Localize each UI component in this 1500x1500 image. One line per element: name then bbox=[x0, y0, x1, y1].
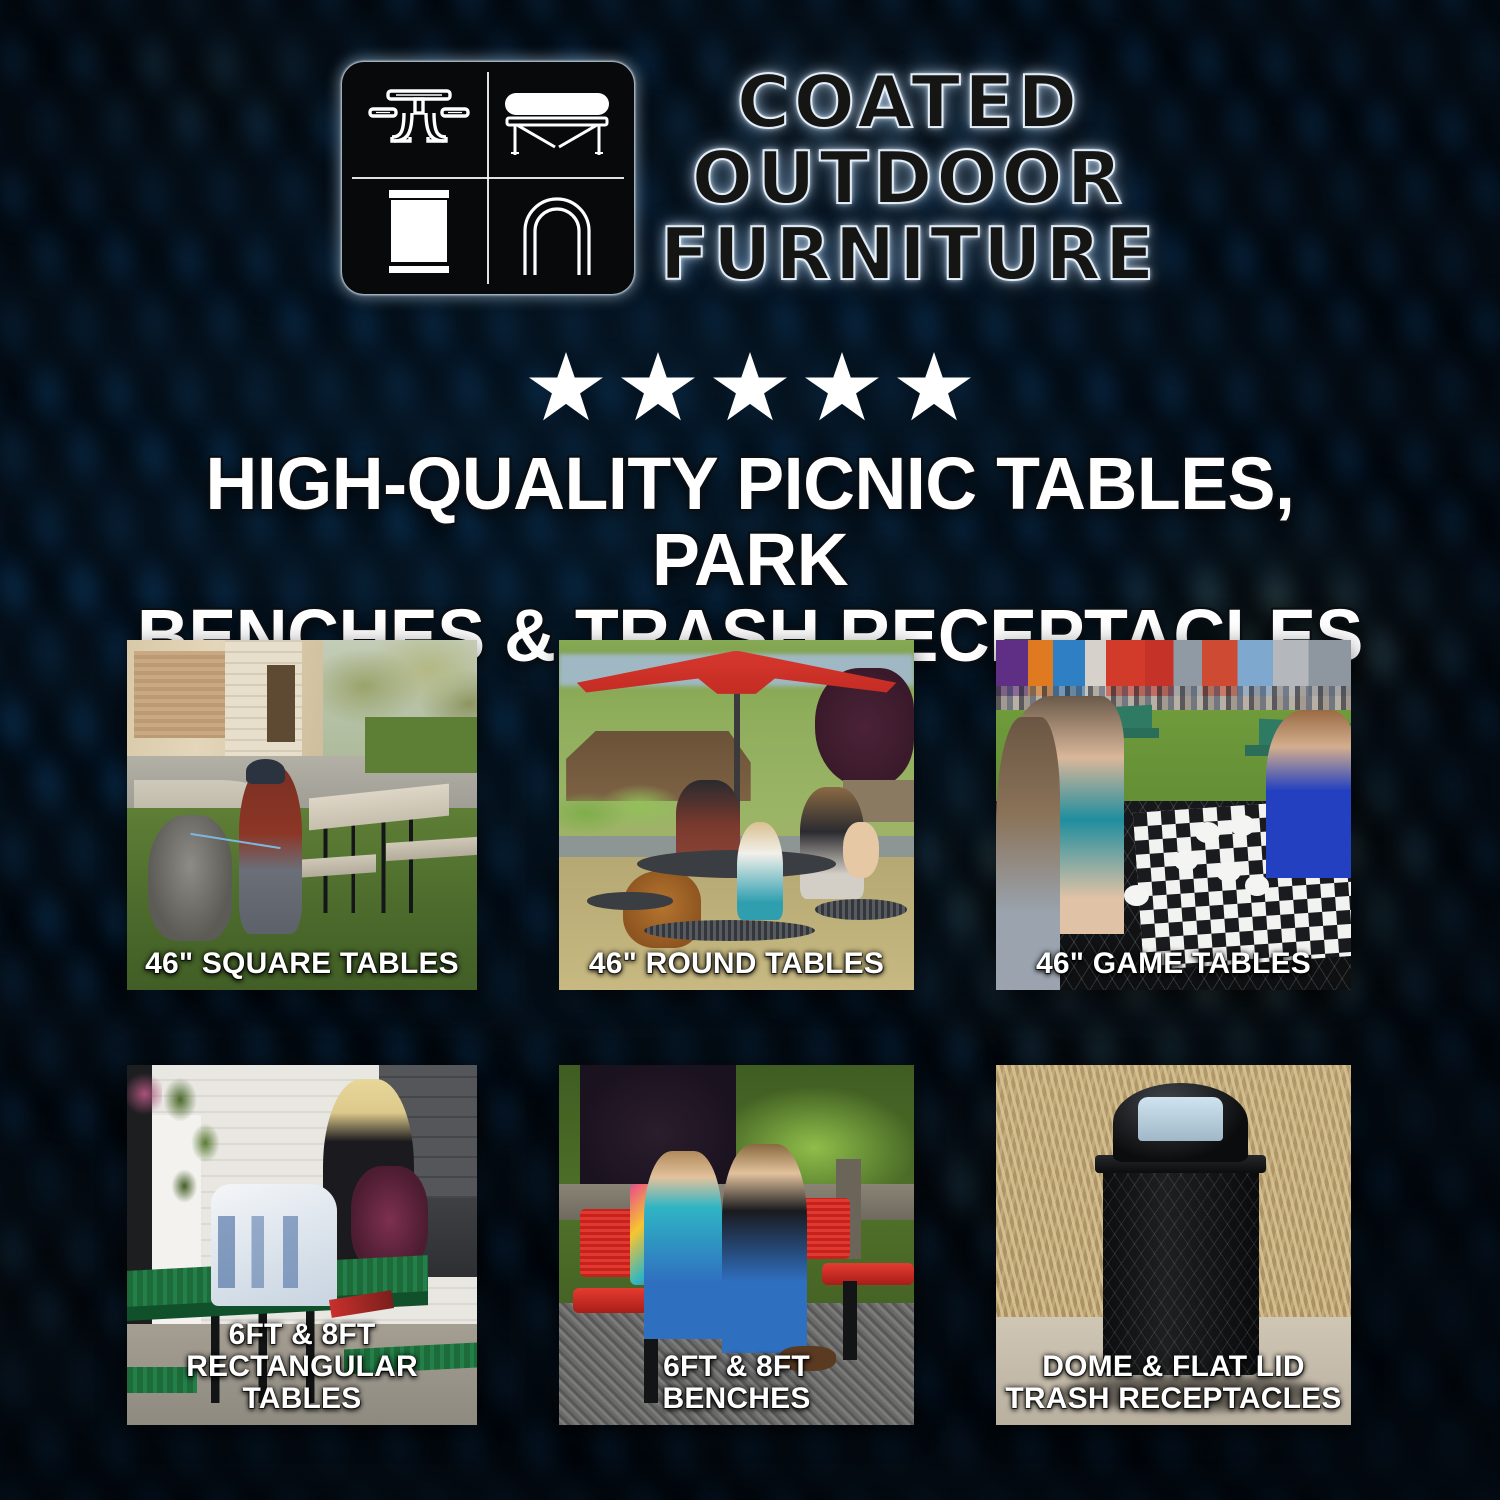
product-caption: 6FT & 8FT BENCHES bbox=[559, 1351, 914, 1415]
caption-line-1: 46" ROUND TABLES bbox=[589, 947, 884, 980]
caption-line-2: TRASH RECEPTACLES bbox=[1002, 1383, 1345, 1415]
logo-quadrant-bike-rack bbox=[488, 178, 626, 286]
poster-content: COATED OUTDOOR FURNITURE HIGH-QUALITY PI… bbox=[0, 0, 1500, 1500]
product-tile-rectangular-tables[interactable]: 6FT & 8FT RECTANGULAR TABLES bbox=[127, 1065, 477, 1425]
brand-name-line-3: FURNITURE bbox=[660, 216, 1158, 292]
product-photo-game-tables bbox=[996, 640, 1351, 990]
product-tile-round-tables[interactable]: 46" ROUND TABLES bbox=[559, 640, 914, 990]
picnic-table-icon bbox=[366, 85, 472, 163]
product-tile-trash-receptacles[interactable]: DOME & FLAT LID TRASH RECEPTACLES bbox=[996, 1065, 1351, 1425]
company-logo-mark bbox=[342, 62, 634, 294]
bike-rack-arch-icon bbox=[515, 187, 599, 277]
logo-quadrant-trash-receptacle bbox=[350, 178, 488, 286]
star-icon-1 bbox=[529, 352, 603, 424]
product-grid: 46" SQUARE TABLES 46" ROUND TABLES bbox=[127, 640, 1377, 1425]
caption-line-1: DOME & FLAT LID bbox=[1042, 1350, 1304, 1383]
caption-line-1: 46" SQUARE TABLES bbox=[145, 947, 459, 980]
caption-line-2: RECTANGULAR TABLES bbox=[133, 1351, 471, 1415]
product-photo-round-tables bbox=[559, 640, 914, 990]
brand-name: COATED OUTDOOR FURNITURE bbox=[660, 62, 1158, 292]
headline-line-1: HIGH-QUALITY PICNIC TABLES, PARK bbox=[110, 446, 1390, 598]
product-tile-benches[interactable]: 6FT & 8FT BENCHES bbox=[559, 1065, 914, 1425]
star-icon-4 bbox=[805, 352, 879, 424]
caption-line-1: 6FT & 8FT bbox=[229, 1318, 376, 1351]
logo-quadrant-bench bbox=[488, 70, 626, 178]
brand-lockup: COATED OUTDOOR FURNITURE bbox=[0, 62, 1500, 294]
star-rating bbox=[0, 352, 1500, 424]
product-caption: 6FT & 8FT RECTANGULAR TABLES bbox=[127, 1319, 477, 1415]
brand-name-line-1: COATED bbox=[660, 64, 1158, 140]
product-tile-square-tables[interactable]: 46" SQUARE TABLES bbox=[127, 640, 477, 990]
product-photo-square-tables bbox=[127, 640, 477, 990]
product-caption: DOME & FLAT LID TRASH RECEPTACLES bbox=[996, 1351, 1351, 1415]
product-tile-game-tables[interactable]: 46" GAME TABLES bbox=[996, 640, 1351, 990]
star-icon-5 bbox=[897, 352, 971, 424]
caption-line-1: 46" GAME TABLES bbox=[1036, 947, 1311, 980]
product-caption: 46" ROUND TABLES bbox=[559, 948, 914, 980]
product-caption: 46" SQUARE TABLES bbox=[127, 948, 477, 980]
star-icon-3 bbox=[713, 352, 787, 424]
caption-line-2: BENCHES bbox=[565, 1383, 908, 1415]
bench-icon bbox=[501, 89, 613, 159]
brand-name-line-2: OUTDOOR bbox=[660, 140, 1158, 216]
product-caption: 46" GAME TABLES bbox=[996, 948, 1351, 980]
trash-receptacle-icon bbox=[383, 186, 455, 278]
logo-quadrant-picnic-table bbox=[350, 70, 488, 178]
caption-line-1: 6FT & 8FT bbox=[663, 1350, 810, 1383]
star-icon-2 bbox=[621, 352, 695, 424]
poster-canvas: COATED OUTDOOR FURNITURE HIGH-QUALITY PI… bbox=[0, 0, 1500, 1500]
